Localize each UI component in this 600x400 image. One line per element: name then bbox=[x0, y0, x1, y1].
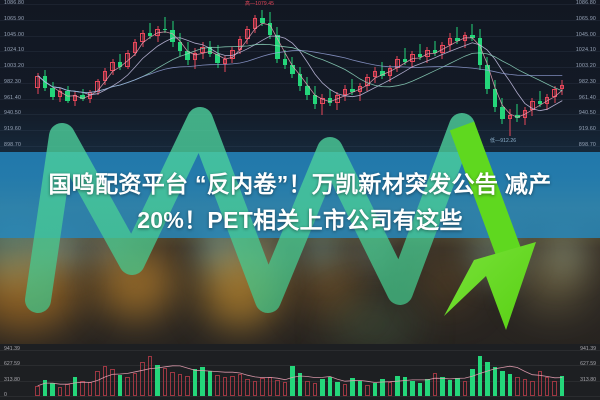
volume-average-line bbox=[0, 344, 600, 400]
bokeh-blob bbox=[356, 238, 386, 268]
bokeh-glow-warm bbox=[96, 248, 176, 320]
news-banner-image: 1086.801065.901045.001024.101003.20982.3… bbox=[0, 0, 600, 400]
low-marker-annotation: 低—912.26 bbox=[490, 139, 516, 144]
volume-tick-label: 0 bbox=[4, 393, 7, 398]
volume-tick-label: 313.80 bbox=[4, 378, 20, 383]
volume-tick-label: 313.80 bbox=[580, 378, 596, 383]
high-marker-annotation: 高—1079.45 bbox=[245, 2, 274, 7]
headline-line-1: 国鸣配资平台 “反内卷”！万凯新材突发公告 减产 bbox=[0, 166, 600, 202]
bokeh-glow-warm bbox=[200, 250, 280, 328]
moving-average-lines bbox=[0, 0, 600, 152]
volume-tick-label: 941.39 bbox=[580, 347, 596, 352]
bokeh-glow-warm bbox=[420, 262, 474, 310]
bokeh-glow-warm bbox=[520, 252, 590, 312]
headline-text: 国鸣配资平台 “反内卷”！万凯新材突发公告 减产 20%！PET相关上市公司有这… bbox=[0, 166, 600, 238]
bokeh-glow-green bbox=[330, 300, 420, 350]
volume-tick-label: 941.39 bbox=[4, 347, 20, 352]
volume-chart-panel: 941.39627.59313.800 941.39627.59313.80 bbox=[0, 344, 600, 400]
price-chart-panel: 1086.801065.901045.001024.101003.20982.3… bbox=[0, 0, 600, 152]
headline-line-2: 20%！PET相关上市公司有这些 bbox=[0, 202, 600, 238]
volume-tick-label: 627.59 bbox=[580, 362, 596, 367]
volume-tick-label: 627.59 bbox=[4, 362, 20, 367]
